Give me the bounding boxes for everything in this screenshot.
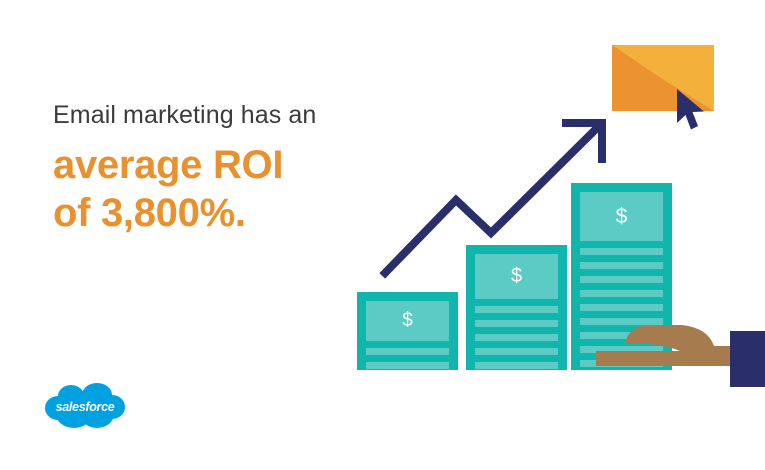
- headline-block: Email marketing has an average ROI of 3,…: [53, 98, 353, 237]
- headline-line-2: average ROI: [53, 142, 353, 189]
- bill-band: [580, 276, 663, 283]
- salesforce-logo[interactable]: salesforce: [44, 382, 126, 430]
- money-stack-small-bills: $: [366, 301, 449, 361]
- bill-band: [580, 304, 663, 311]
- bill-band: [366, 348, 449, 355]
- dollar-symbol: $: [402, 310, 413, 332]
- bill-band: [366, 362, 449, 369]
- cursor-arrow-shape: [675, 88, 709, 134]
- bill-face: $: [366, 301, 449, 341]
- money-stack-small: $: [357, 292, 458, 370]
- bill-face: $: [475, 254, 558, 299]
- headline-line-3: of 3,800%.: [53, 190, 353, 237]
- dollar-symbol: $: [616, 205, 628, 229]
- bill-band: [475, 306, 558, 313]
- headline-line-1: Email marketing has an: [53, 98, 353, 132]
- infographic-canvas: Email marketing has an average ROI of 3,…: [0, 0, 765, 470]
- bill-face: $: [580, 192, 663, 241]
- money-stack-medium-bills: $: [475, 254, 558, 361]
- bill-band: [475, 348, 558, 355]
- dollar-symbol: $: [511, 265, 522, 288]
- bill-band: [580, 248, 663, 255]
- bill-band: [580, 262, 663, 269]
- salesforce-wordmark: salesforce: [44, 382, 126, 430]
- money-stack-medium: $: [466, 245, 567, 370]
- bill-band: [475, 362, 558, 369]
- bill-band: [580, 290, 663, 297]
- bill-band: [475, 320, 558, 327]
- hand-shape: [596, 320, 736, 378]
- sleeve-cuff: [730, 331, 765, 387]
- open-hand-icon: [596, 320, 736, 378]
- mouse-cursor-icon: [675, 88, 709, 134]
- bill-band: [475, 334, 558, 341]
